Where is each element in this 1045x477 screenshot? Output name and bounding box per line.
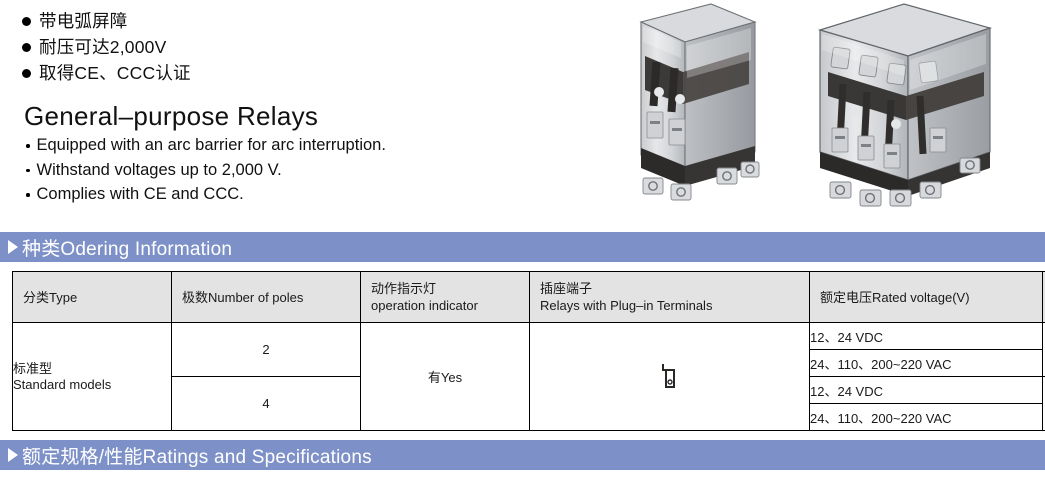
triangle-right-icon: [8, 448, 18, 462]
relay-4-pole-photo: [808, 0, 1013, 208]
feature-item: Complies with CE and CCC.: [26, 182, 622, 207]
section-banner-ordering-label: 种类Odering Information: [22, 234, 232, 261]
header-number-of-poles: 极数Number of poles: [172, 272, 361, 323]
header-operation-indicator-cn: 动作指示灯: [371, 280, 519, 297]
section-banner-ratings-label: 额定规格/性能Ratings and Specifications: [22, 442, 372, 469]
header-operation-indicator: 动作指示灯 operation indicator: [361, 272, 530, 323]
intro-text-block: 带电弧屏障 耐压可达2,000V 取得CE、CCC认证 General–purp…: [22, 8, 622, 207]
feature-item: Equipped with an arc barrier for arc int…: [26, 133, 622, 158]
bullet-dot-icon: [26, 193, 30, 197]
table-row: 标准型 Standard models 2 有Yes 12、24 VDC BFU…: [13, 323, 1045, 350]
feature-label: Withstand voltages up to 2,000 V.: [37, 158, 282, 183]
header-plugin-terminals-cn: 插座端子: [540, 280, 799, 297]
cell-operation-indicator: 有Yes: [361, 323, 530, 431]
header-rated-voltage: 额定电压Rated voltage(V): [810, 272, 1043, 323]
page-title: General–purpose Relays: [24, 99, 622, 133]
header-operation-indicator-en: operation indicator: [371, 297, 519, 314]
header-plugin-terminals: 插座端子 Relays with Plug–in Terminals: [530, 272, 810, 323]
cell-poles-4: 4: [172, 377, 361, 431]
header-plugin-terminals-en: Relays with Plug–in Terminals: [540, 297, 799, 314]
bullet-dot-icon: [26, 144, 30, 148]
section-banner-ordering: 种类Odering Information: [0, 232, 1045, 262]
relay-socket-icon: [661, 363, 678, 390]
table-header-row: 分类Type 极数Number of poles 动作指示灯 operation…: [13, 272, 1045, 323]
chinese-bullet-label: 耐压可达2,000V: [39, 34, 166, 60]
header-type: 分类Type: [13, 272, 172, 323]
chinese-bullet-item: 带电弧屏障: [22, 8, 622, 34]
bullet-dot-icon: [22, 69, 31, 78]
section-banner-ratings: 额定规格/性能Ratings and Specifications: [0, 440, 1045, 470]
feature-label: Equipped with an arc barrier for arc int…: [37, 133, 386, 158]
product-intro-section: 带电弧屏障 耐压可达2,000V 取得CE、CCC认证 General–purp…: [0, 0, 1045, 228]
cell-voltage: 12、24 VDC: [810, 323, 1043, 350]
cell-type-en: Standard models: [13, 377, 171, 393]
cell-type-standard: 标准型 Standard models: [13, 323, 172, 431]
bullet-dot-icon: [22, 17, 31, 26]
feature-label: Complies with CE and CCC.: [37, 182, 244, 207]
triangle-right-icon: [8, 240, 18, 254]
feature-item: Withstand voltages up to 2,000 V.: [26, 158, 622, 183]
cell-voltage: 24、110、200~220 VAC: [810, 404, 1043, 431]
bullet-dot-icon: [26, 169, 30, 173]
cell-voltage: 24、110、200~220 VAC: [810, 350, 1043, 377]
relay-2-pole-photo: [625, 0, 800, 205]
cell-poles-2: 2: [172, 323, 361, 377]
chinese-bullet-item: 耐压可达2,000V: [22, 34, 622, 60]
bullet-dot-icon: [22, 43, 31, 52]
cell-type-cn: 标准型: [13, 361, 171, 377]
chinese-bullet-item: 取得CE、CCC认证: [22, 60, 622, 86]
chinese-bullet-label: 取得CE、CCC认证: [39, 60, 191, 86]
chinese-bullet-label: 带电弧屏障: [39, 8, 128, 34]
cell-plugin-terminal-icon: [530, 323, 810, 431]
cell-voltage: 12、24 VDC: [810, 377, 1043, 404]
ordering-information-table: 分类Type 极数Number of poles 动作指示灯 operation…: [12, 271, 1045, 431]
